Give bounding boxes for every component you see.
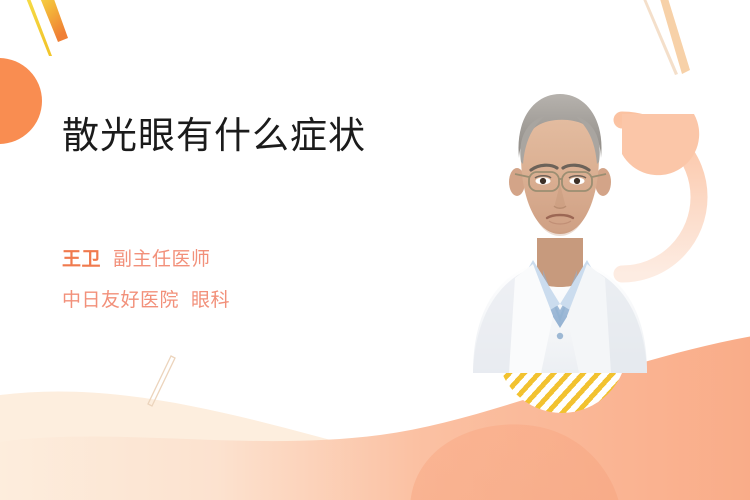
circle-left-icon xyxy=(0,58,42,144)
doctor-affiliation-row: 中日友好医院眼科 xyxy=(62,286,462,315)
doctor-name: 王卫 xyxy=(62,248,101,270)
diagonal-stripe-top-left-icon xyxy=(0,0,140,76)
doctor-portrait xyxy=(455,78,665,373)
doctor-byline: 王卫副主任医师 中日友好医院眼科 xyxy=(62,245,462,316)
headline-block: 散光眼有什么症状 xyxy=(62,112,442,159)
doctor-name-row: 王卫副主任医师 xyxy=(62,245,462,274)
doctor-hospital: 中日友好医院 xyxy=(62,289,179,311)
thin-line-bottom-left-icon xyxy=(140,352,190,412)
doctor-department: 眼科 xyxy=(191,289,230,311)
page-title: 散光眼有什么症状 xyxy=(62,112,442,159)
doctor-title: 副主任医师 xyxy=(113,248,211,270)
poster-canvas: 散光眼有什么症状 王卫副主任医师 中日友好医院眼科 xyxy=(0,0,750,500)
